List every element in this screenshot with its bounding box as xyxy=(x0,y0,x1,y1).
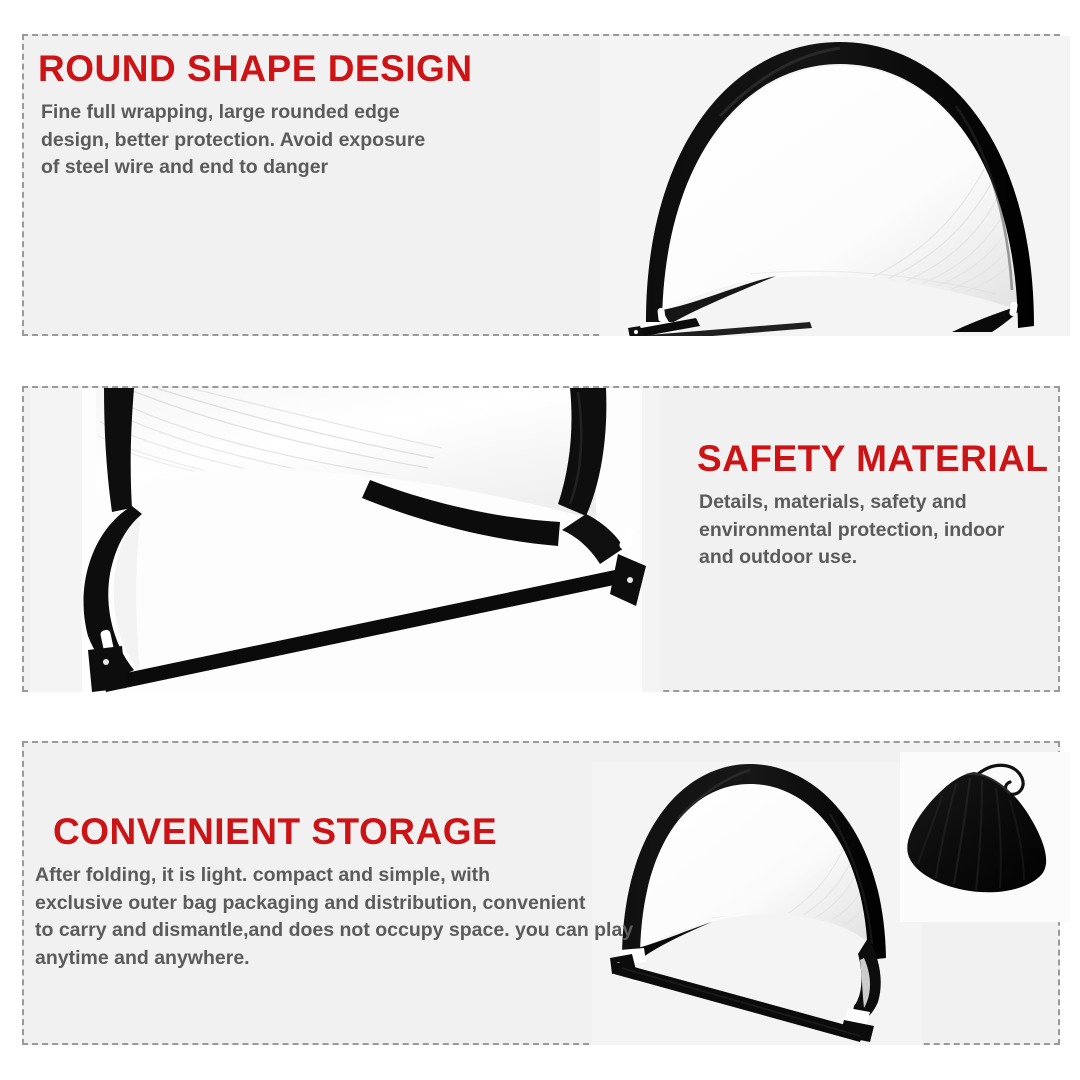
text-block-round-shape-design: ROUND SHAPE DESIGN Fine full wrapping, l… xyxy=(38,50,473,182)
panel-1-body: Fine full wrapping, large rounded edge d… xyxy=(38,99,473,182)
carry-bag-image xyxy=(900,752,1070,922)
full-pop-up-goal-image xyxy=(592,762,922,1045)
goal-arch-illustration xyxy=(600,36,1070,336)
panel-1-heading: ROUND SHAPE DESIGN xyxy=(38,50,473,89)
pop-up-soccer-goal-arch-image xyxy=(600,36,1070,336)
panel-2-body: Details, materials, safety and environme… xyxy=(697,489,1048,572)
panel-3-heading: CONVENIENT STORAGE xyxy=(35,813,633,852)
goal-left-ground-stake xyxy=(88,646,126,692)
goal-base-closeup-illustration xyxy=(30,388,660,692)
panel-2-heading: SAFETY MATERIAL xyxy=(697,440,1048,479)
panel-3-body: After folding, it is light. compact and … xyxy=(35,862,633,973)
full-goal-illustration xyxy=(592,762,922,1045)
carry-bag-illustration xyxy=(900,752,1070,922)
goal-frame-base-closeup-image xyxy=(30,388,660,692)
text-block-safety-material: SAFETY MATERIAL Details, materials, safe… xyxy=(697,440,1048,572)
infographic-page: ROUND SHAPE DESIGN Fine full wrapping, l… xyxy=(0,0,1080,1080)
text-block-convenient-storage: CONVENIENT STORAGE After folding, it is … xyxy=(35,813,633,973)
